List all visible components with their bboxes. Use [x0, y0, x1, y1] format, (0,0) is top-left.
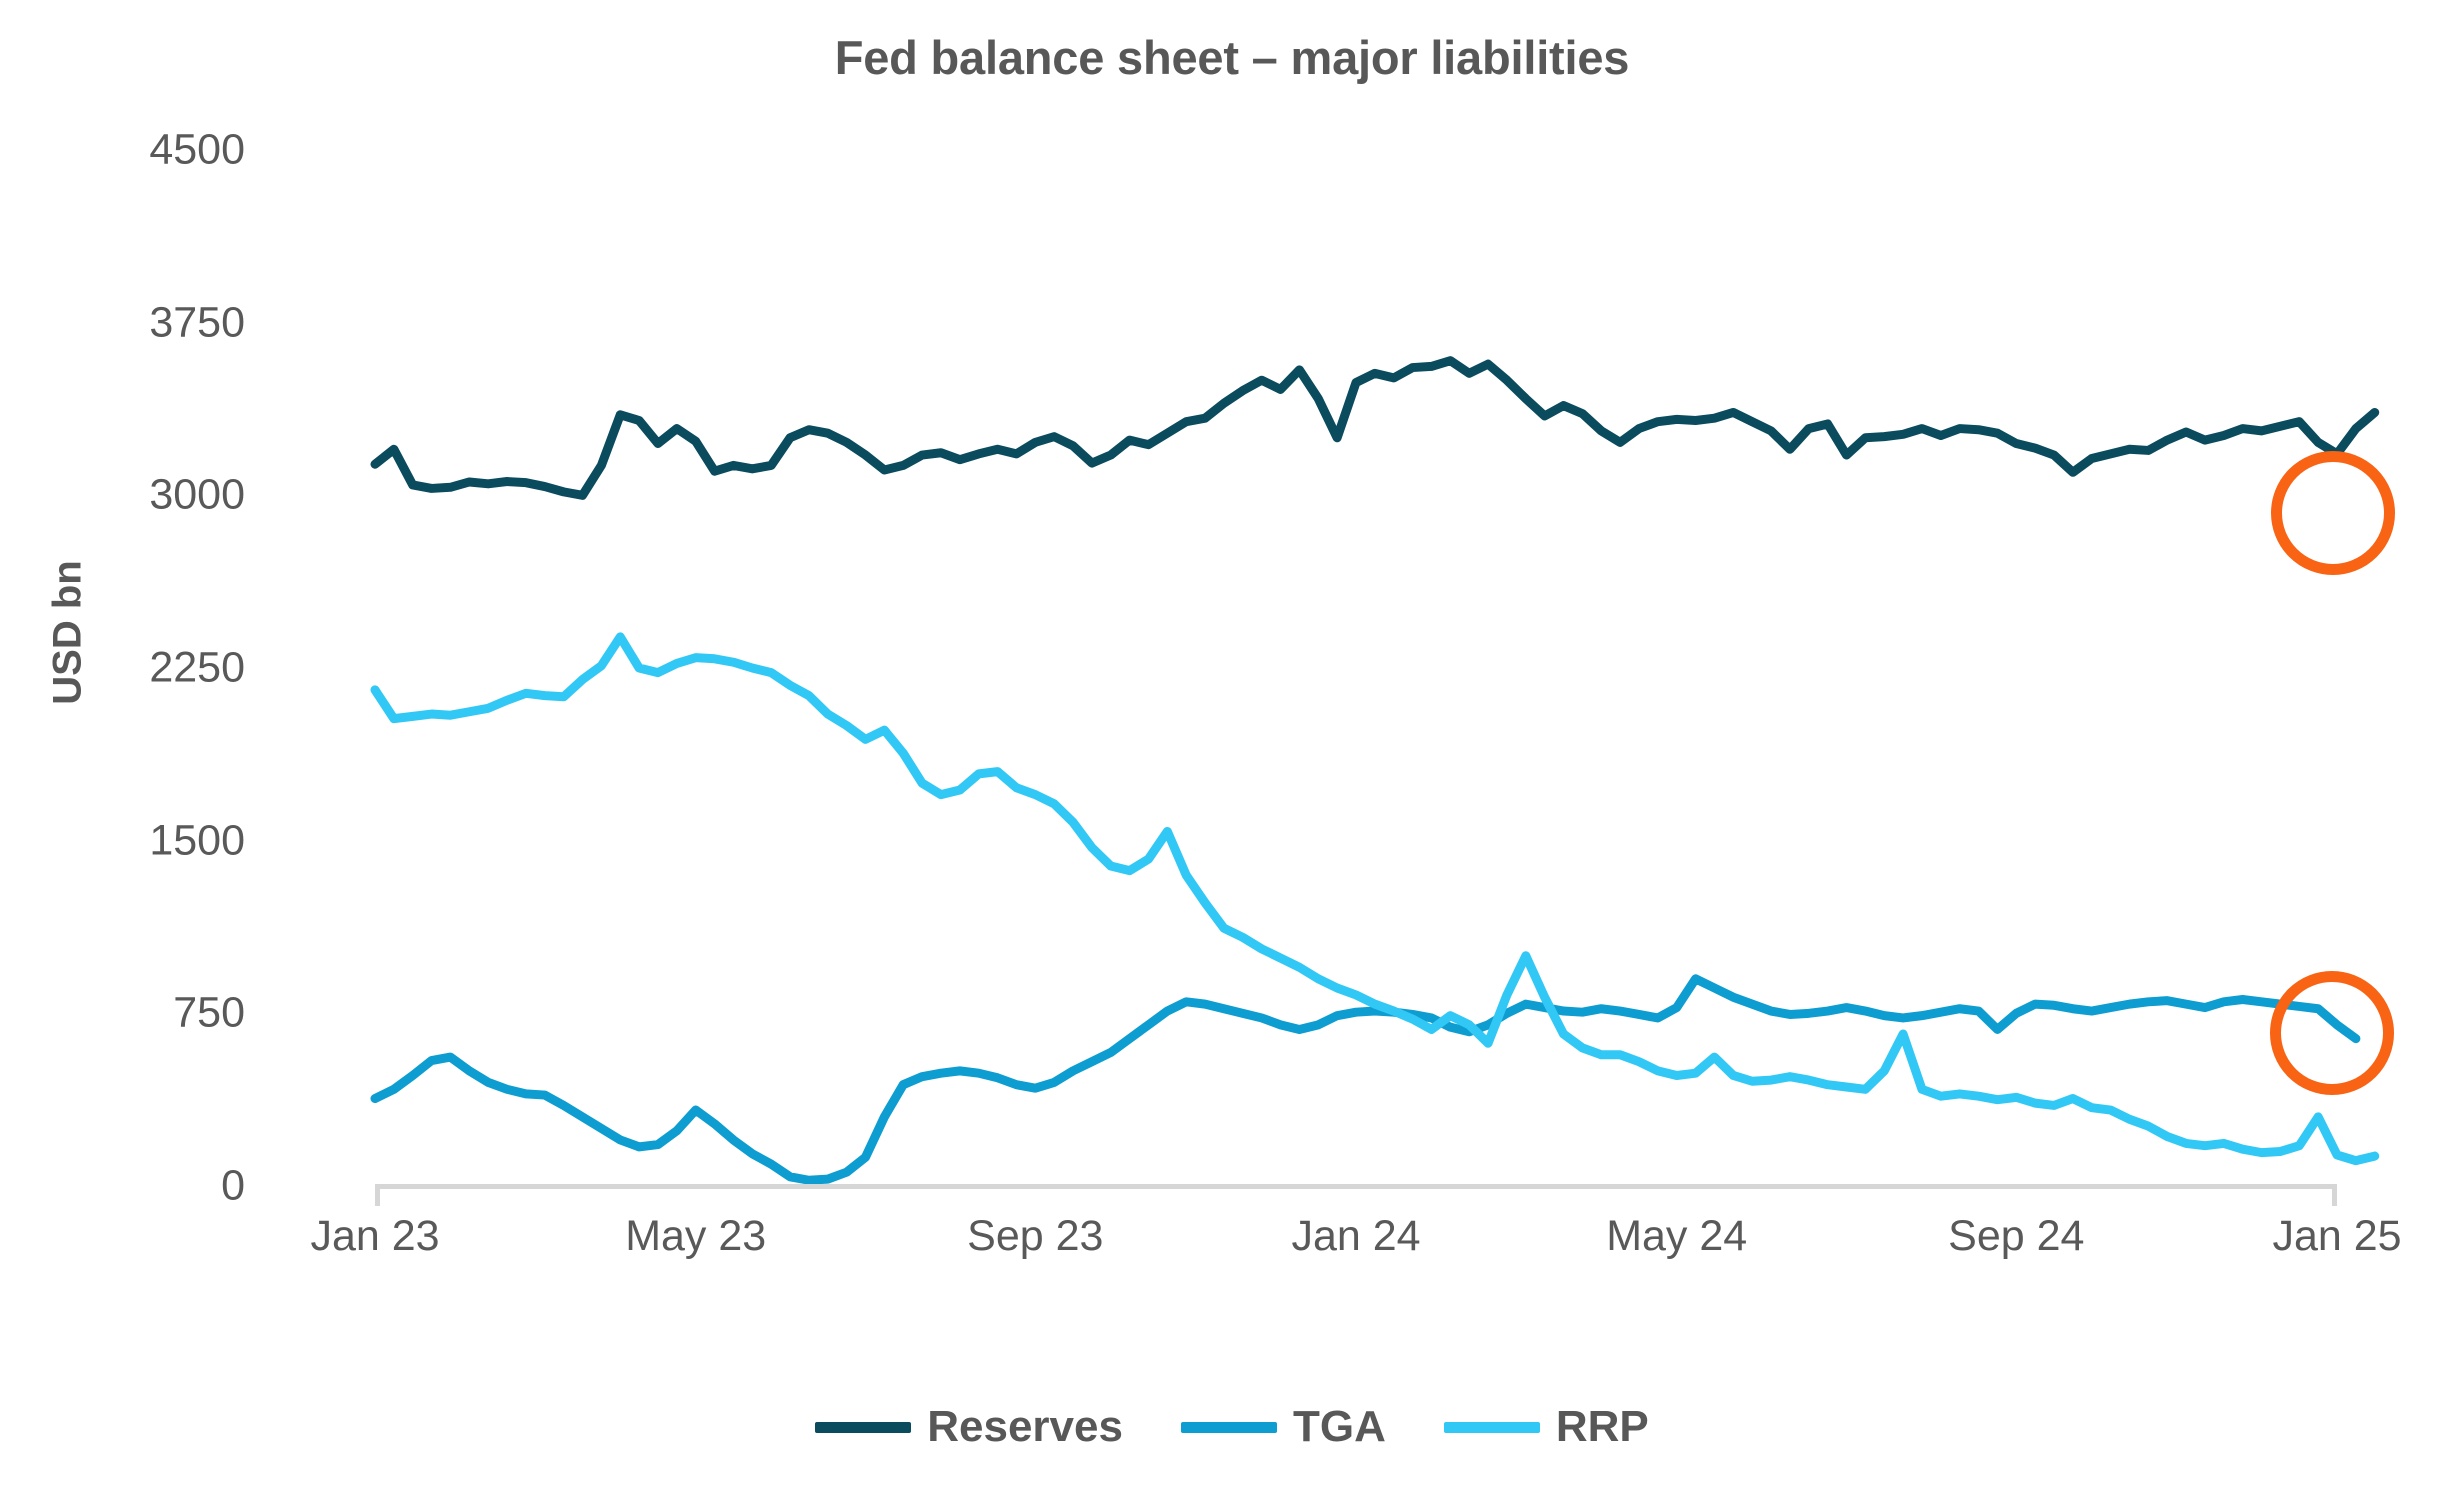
- x-tick-label: Sep 23: [967, 1212, 1103, 1261]
- x-tick-label: Jan 24: [1291, 1212, 1420, 1261]
- legend-swatch-reserves: [815, 1422, 911, 1433]
- x-tick-label: Jan 23: [310, 1212, 439, 1261]
- series-line-reserves: [375, 361, 2375, 496]
- legend-label-tga: TGA: [1293, 1405, 1386, 1449]
- tga-endpoint-highlight: [2270, 971, 2394, 1095]
- plot-area: [375, 150, 2337, 1186]
- x-tick-label: Jan 25: [2272, 1212, 2401, 1261]
- legend-swatch-rrp: [1444, 1422, 1540, 1433]
- x-tick-label: May 23: [625, 1212, 766, 1261]
- x-axis-tick-end: [2332, 1184, 2337, 1206]
- y-tick-label: 3000: [149, 471, 245, 520]
- y-tick-label: 3750: [149, 298, 245, 347]
- legend-item-tga[interactable]: TGA: [1181, 1405, 1386, 1449]
- legend-swatch-tga: [1181, 1422, 1277, 1433]
- y-tick-label: 750: [173, 989, 245, 1038]
- chart-title: Fed balance sheet – major liabilities: [0, 30, 2464, 85]
- y-axis-title: USD bn: [46, 503, 91, 763]
- legend-item-reserves[interactable]: Reserves: [815, 1405, 1123, 1449]
- y-tick-label: 4500: [149, 126, 245, 175]
- x-tick-label: May 24: [1606, 1212, 1747, 1261]
- chart-root: Fed balance sheet – major liabilities US…: [0, 0, 2464, 1512]
- series-lines: [375, 150, 2337, 1186]
- reserves-endpoint-highlight: [2271, 451, 2395, 575]
- y-tick-label: 1500: [149, 816, 245, 865]
- y-tick-label: 0: [221, 1162, 245, 1211]
- series-line-rrp: [375, 637, 2375, 1161]
- x-tick-label: Sep 24: [1948, 1212, 2084, 1261]
- x-axis-tick-start: [375, 1184, 380, 1206]
- legend-label-reserves: Reserves: [927, 1405, 1123, 1449]
- series-line-tga: [375, 979, 2356, 1180]
- x-axis-line: [375, 1184, 2337, 1189]
- y-tick-label: 2250: [149, 644, 245, 693]
- legend-item-rrp[interactable]: RRP: [1444, 1405, 1649, 1449]
- chart-legend: ReservesTGARRP: [0, 1405, 2464, 1449]
- legend-label-rrp: RRP: [1556, 1405, 1649, 1449]
